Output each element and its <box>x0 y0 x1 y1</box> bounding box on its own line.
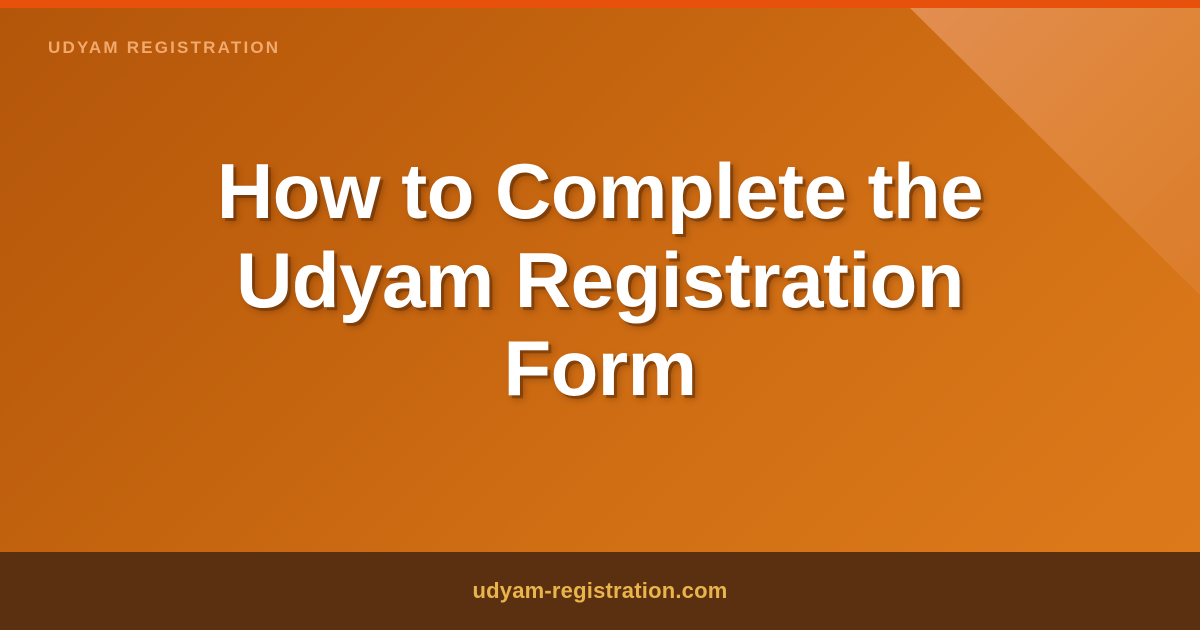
hero-section: UDYAM REGISTRATION How to Complete the U… <box>0 8 1200 552</box>
top-accent-bar <box>0 0 1200 8</box>
headline-container: How to Complete the Udyam Registration F… <box>0 8 1200 552</box>
page-title: How to Complete the Udyam Registration F… <box>100 147 1100 414</box>
share-card: UDYAM REGISTRATION How to Complete the U… <box>0 0 1200 630</box>
footer-bar: udyam-registration.com <box>0 552 1200 630</box>
footer-domain-label: udyam-registration.com <box>472 578 727 604</box>
